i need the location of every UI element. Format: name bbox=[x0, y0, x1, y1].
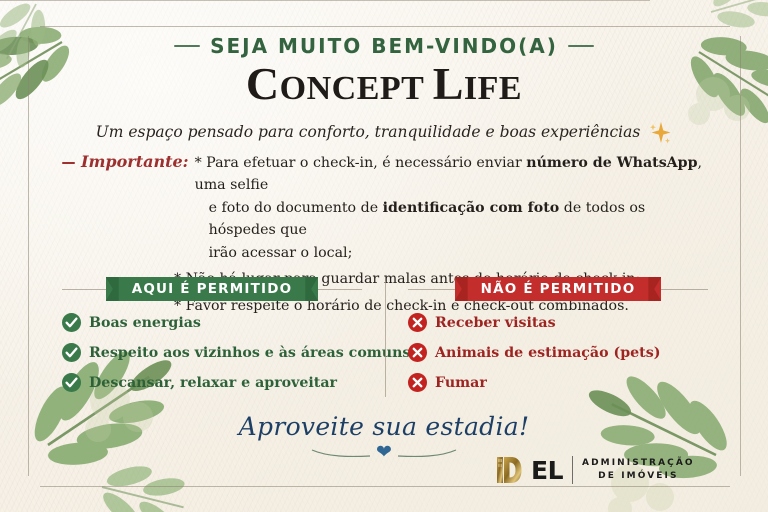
logo-tagline: ADMINISTRAÇÃO DE IMÓVEIS bbox=[582, 457, 695, 483]
forbidden-list: Receber visitas Animais de estimação (pe… bbox=[408, 313, 708, 392]
list-item: Animais de estimação (pets) bbox=[408, 343, 708, 362]
important-dash-icon bbox=[62, 162, 75, 164]
check-circle-icon bbox=[62, 313, 81, 332]
list-item-label: Boas energias bbox=[89, 315, 201, 331]
logo-wordmark: EL bbox=[531, 458, 563, 483]
sparkle-icon bbox=[646, 119, 672, 145]
logo-separator bbox=[572, 456, 573, 484]
list-item: Receber visitas bbox=[408, 313, 708, 332]
forbidden-banner: NÃO É PERMITIDO bbox=[455, 277, 662, 301]
allowed-column: AQUI É PERMITIDO Boas energias Respeito … bbox=[62, 276, 362, 402]
logo: EL ADMINISTRAÇÃO DE IMÓVEIS bbox=[496, 455, 695, 485]
important-line-3: irão acessar o local; bbox=[195, 242, 712, 264]
page-title: CONCEPT LIFE bbox=[0, 60, 768, 109]
banner-rule-left bbox=[62, 289, 106, 290]
welcome-text: SEJA MUITO BEM-VINDO(A) bbox=[210, 34, 558, 58]
list-item-label: Fumar bbox=[435, 375, 487, 391]
logo-tagline-line-1: ADMINISTRAÇÃO bbox=[582, 457, 695, 470]
header: SEJA MUITO BEM-VINDO(A) CONCEPT LIFE Um … bbox=[0, 34, 768, 145]
check-circle-icon bbox=[62, 373, 81, 392]
closing-message: Aproveite sua estadia! bbox=[0, 412, 768, 441]
x-circle-icon bbox=[408, 373, 427, 392]
title-ife: IFE bbox=[464, 70, 522, 107]
rules-columns: AQUI É PERMITIDO Boas energias Respeito … bbox=[62, 276, 708, 402]
logo-mark-icon bbox=[496, 455, 522, 485]
frame-line-top bbox=[40, 26, 730, 27]
x-circle-icon bbox=[408, 313, 427, 332]
flourish-right-icon bbox=[396, 448, 458, 458]
subtitle-row: Um espaço pensado para conforto, tranqui… bbox=[0, 119, 768, 145]
important-line-1: * Para efetuar o check-in, é necessário … bbox=[195, 152, 712, 197]
banner-rule-left bbox=[408, 289, 455, 290]
title-c: C bbox=[246, 58, 280, 109]
list-item: Boas energias bbox=[62, 313, 362, 332]
title-l: L bbox=[433, 58, 464, 109]
title-oncept: ONCEPT bbox=[280, 70, 433, 107]
dash-right-icon bbox=[568, 45, 594, 47]
logo-tagline-line-2: DE IMÓVEIS bbox=[582, 470, 695, 483]
x-circle-icon bbox=[408, 343, 427, 362]
list-item-label: Receber visitas bbox=[435, 315, 556, 331]
imp-l1-pre: * Para efetuar o check-in, é necessário … bbox=[195, 155, 527, 171]
important-line-2: e foto do documento de identificação com… bbox=[195, 197, 712, 242]
welcome-row: SEJA MUITO BEM-VINDO(A) bbox=[0, 34, 768, 58]
dash-left-icon bbox=[174, 45, 200, 47]
allowed-list: Boas energias Respeito aos vizinhos e às… bbox=[62, 313, 362, 392]
allowed-banner-row: AQUI É PERMITIDO bbox=[62, 276, 362, 302]
banner-rule-right bbox=[661, 289, 708, 290]
list-item: Descansar, relaxar e aproveitar bbox=[62, 373, 362, 392]
forbidden-banner-row: NÃO É PERMITIDO bbox=[408, 276, 708, 302]
important-label: Importante: bbox=[81, 152, 189, 171]
heart-icon: ❤ bbox=[376, 443, 392, 462]
list-item-label: Animais de estimação (pets) bbox=[435, 345, 660, 361]
list-item: Respeito aos vizinhos e às áreas comuns bbox=[62, 343, 362, 362]
important-body: * Para efetuar o check-in, é necessário … bbox=[195, 152, 712, 264]
footer-divider bbox=[0, 0, 650, 1]
banner-rule-right bbox=[318, 289, 362, 290]
list-item-label: Descansar, relaxar e aproveitar bbox=[89, 375, 337, 391]
column-divider bbox=[362, 276, 408, 402]
forbidden-column: NÃO É PERMITIDO Receber visitas Animais … bbox=[408, 276, 708, 402]
imp-l1-bold: número de WhatsApp bbox=[526, 155, 697, 171]
subtitle-text: Um espaço pensado para conforto, tranqui… bbox=[96, 123, 641, 141]
allowed-banner: AQUI É PERMITIDO bbox=[106, 277, 319, 301]
frame-line-bottom bbox=[40, 486, 730, 487]
flourish-left-icon bbox=[310, 448, 372, 458]
important-heading-row: Importante: * Para efetuar o check-in, é… bbox=[62, 152, 712, 264]
list-item: Fumar bbox=[408, 373, 708, 392]
check-circle-icon bbox=[62, 343, 81, 362]
imp-l2-bold: identificação com foto bbox=[383, 200, 560, 216]
imp-l2-pre: e foto do documento de bbox=[209, 200, 383, 216]
welcome-card: SEJA MUITO BEM-VINDO(A) CONCEPT LIFE Um … bbox=[0, 0, 768, 512]
